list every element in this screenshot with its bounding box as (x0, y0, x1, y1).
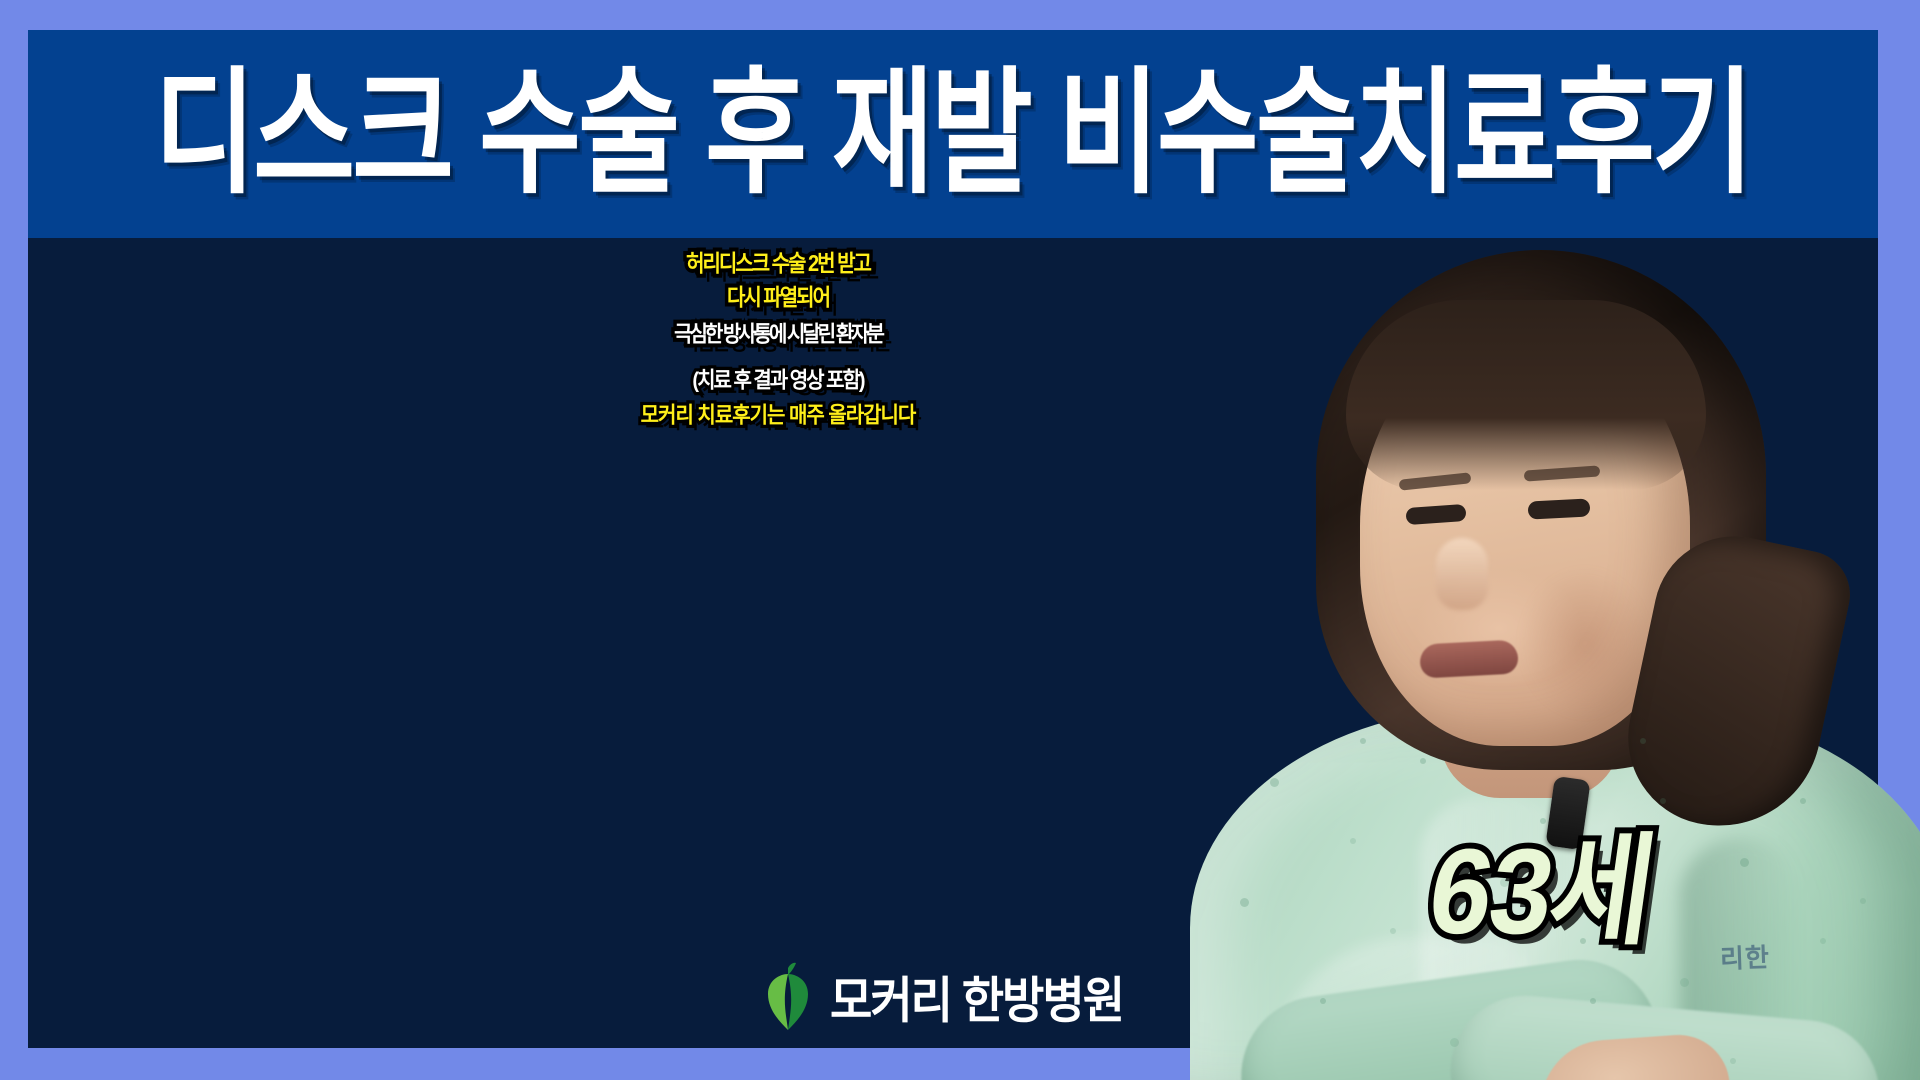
headline-subnote: (치료 후 결과 영상 포함) (28, 370, 1528, 392)
headline-line-1: 허리디스크 수술 2번 받고 (28, 252, 1528, 275)
age-badge: 63세 (1420, 794, 1666, 969)
page-title: 디스크 수술 후 재발 비수술치료후기 (155, 66, 1752, 203)
headline-block: 허리디스크 수술 2번 받고 다시 파열되어 극심한 방사통에 시달린 환자분 … (28, 244, 1528, 426)
thumbnail-canvas: 리한 디스크 수술 후 재발 비수술치료후기 허리디스크 수술 2번 받고 다시… (0, 0, 1920, 1080)
hospital-name: 모커리 한방병원 (830, 961, 1123, 1032)
headline-footer-note: 모커리 치료후기는 매주 올라갑니다 (28, 405, 1528, 427)
headline-line-3: 극심한 방사통에 시달린 환자분 (28, 324, 1528, 347)
green-leaf-heart-icon (760, 962, 816, 1032)
header-band: 디스크 수술 후 재발 비수술치료후기 (28, 30, 1878, 238)
photo-gown-dot (1730, 1058, 1736, 1064)
headline-line-2: 다시 파열되어 (28, 287, 1528, 310)
hospital-logo: 모커리 한방병원 (760, 962, 1123, 1032)
